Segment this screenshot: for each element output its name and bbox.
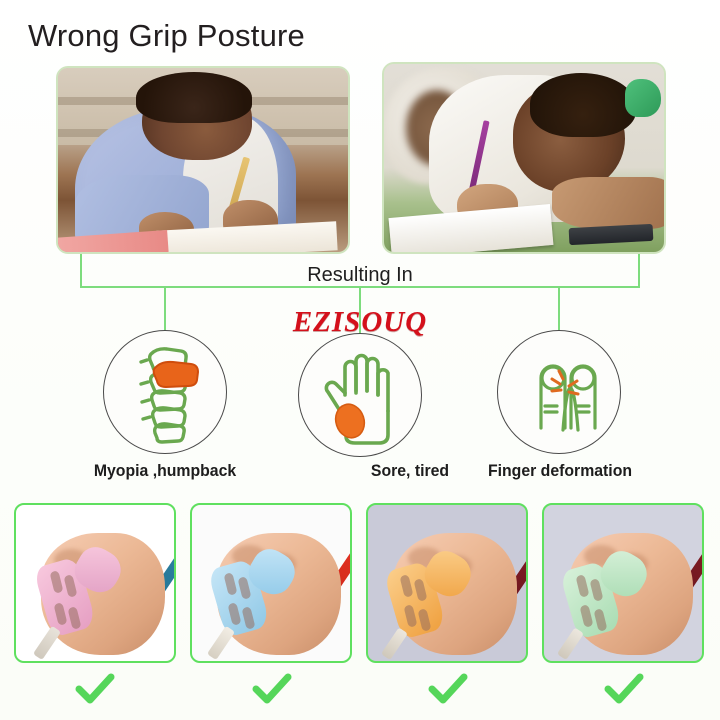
- boy-hair: [136, 72, 252, 124]
- product-image-mint: [544, 505, 702, 661]
- hand-icon: [298, 333, 422, 457]
- fingers-pain-icon: [497, 330, 621, 454]
- symptom-label-finger: Finger deformation: [411, 461, 709, 481]
- girl-photo-content: [384, 64, 664, 252]
- girl-arm: [552, 177, 664, 230]
- product-card-orange[interactable]: [366, 503, 528, 663]
- checkmark-icon-3: [428, 672, 468, 706]
- product-image-blue: [192, 505, 350, 661]
- symptom-spine: [103, 330, 227, 454]
- product-image-orange: [368, 505, 526, 661]
- pencil-shaft-lower: [557, 627, 584, 660]
- page-title: Wrong Grip Posture: [28, 18, 305, 54]
- boy-wrong-posture-photo: [56, 66, 350, 254]
- girl-hair-bow: [625, 79, 661, 117]
- girl-wrong-posture-photo: [382, 62, 666, 254]
- pencil-shaft-lower: [207, 626, 235, 660]
- pencil-shaft-lower: [381, 627, 408, 660]
- symptom-fingers: [497, 330, 621, 454]
- spine-icon: [103, 330, 227, 454]
- checkmark-icon-2: [252, 672, 292, 706]
- product-image-pink: [16, 505, 174, 661]
- resulting-in-label: Resulting In: [0, 264, 720, 287]
- boy-photo-content: [58, 68, 348, 252]
- product-card-mint[interactable]: [542, 503, 704, 663]
- product-card-blue[interactable]: [190, 503, 352, 663]
- spine-inflamed-vertebra: [154, 362, 198, 387]
- symptom-hand: [298, 333, 422, 457]
- infographic-page: Wrong Grip Posture: [0, 0, 720, 720]
- product-card-pink[interactable]: [14, 503, 176, 663]
- pencil-shaft-lower: [33, 626, 61, 660]
- girl-hair: [530, 73, 636, 137]
- checkmark-icon-1: [75, 672, 115, 706]
- checkmark-icon-4: [604, 672, 644, 706]
